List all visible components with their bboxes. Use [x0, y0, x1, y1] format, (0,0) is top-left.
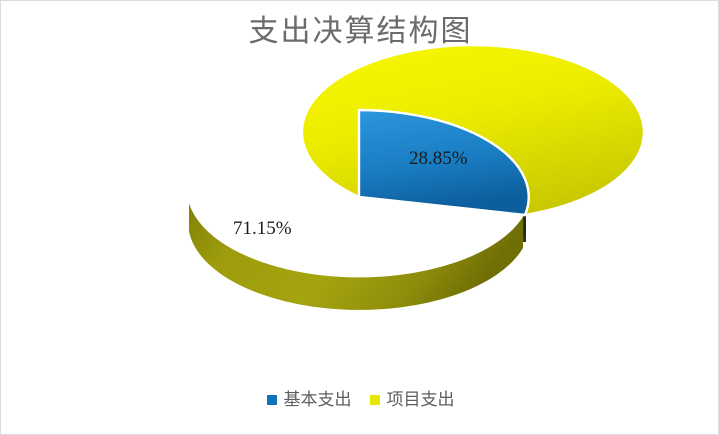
legend-label-project-expenditure: 项目支出 — [387, 391, 455, 409]
chart-container: 支出决算结构图 — [0, 0, 719, 435]
slice-label-blue: 28.85% — [409, 148, 468, 170]
legend-square-marker-blue — [267, 395, 277, 405]
legend-item-basic-expenditure[interactable]: 基本支出 — [267, 391, 352, 409]
legend-square-marker-yellow — [370, 395, 380, 405]
legend-label-basic-expenditure: 基本支出 — [284, 391, 352, 409]
page-title: 支出决算结构图 — [1, 13, 719, 51]
slice-label-yellow: 71.15% — [233, 218, 292, 240]
legend-item-project-expenditure[interactable]: 项目支出 — [370, 391, 455, 409]
pie-chart-3d: 28.85% 71.15% — [171, 96, 551, 341]
pie-graphic — [171, 96, 551, 341]
chart-legend: 基本支出 项目支出 — [1, 391, 719, 409]
